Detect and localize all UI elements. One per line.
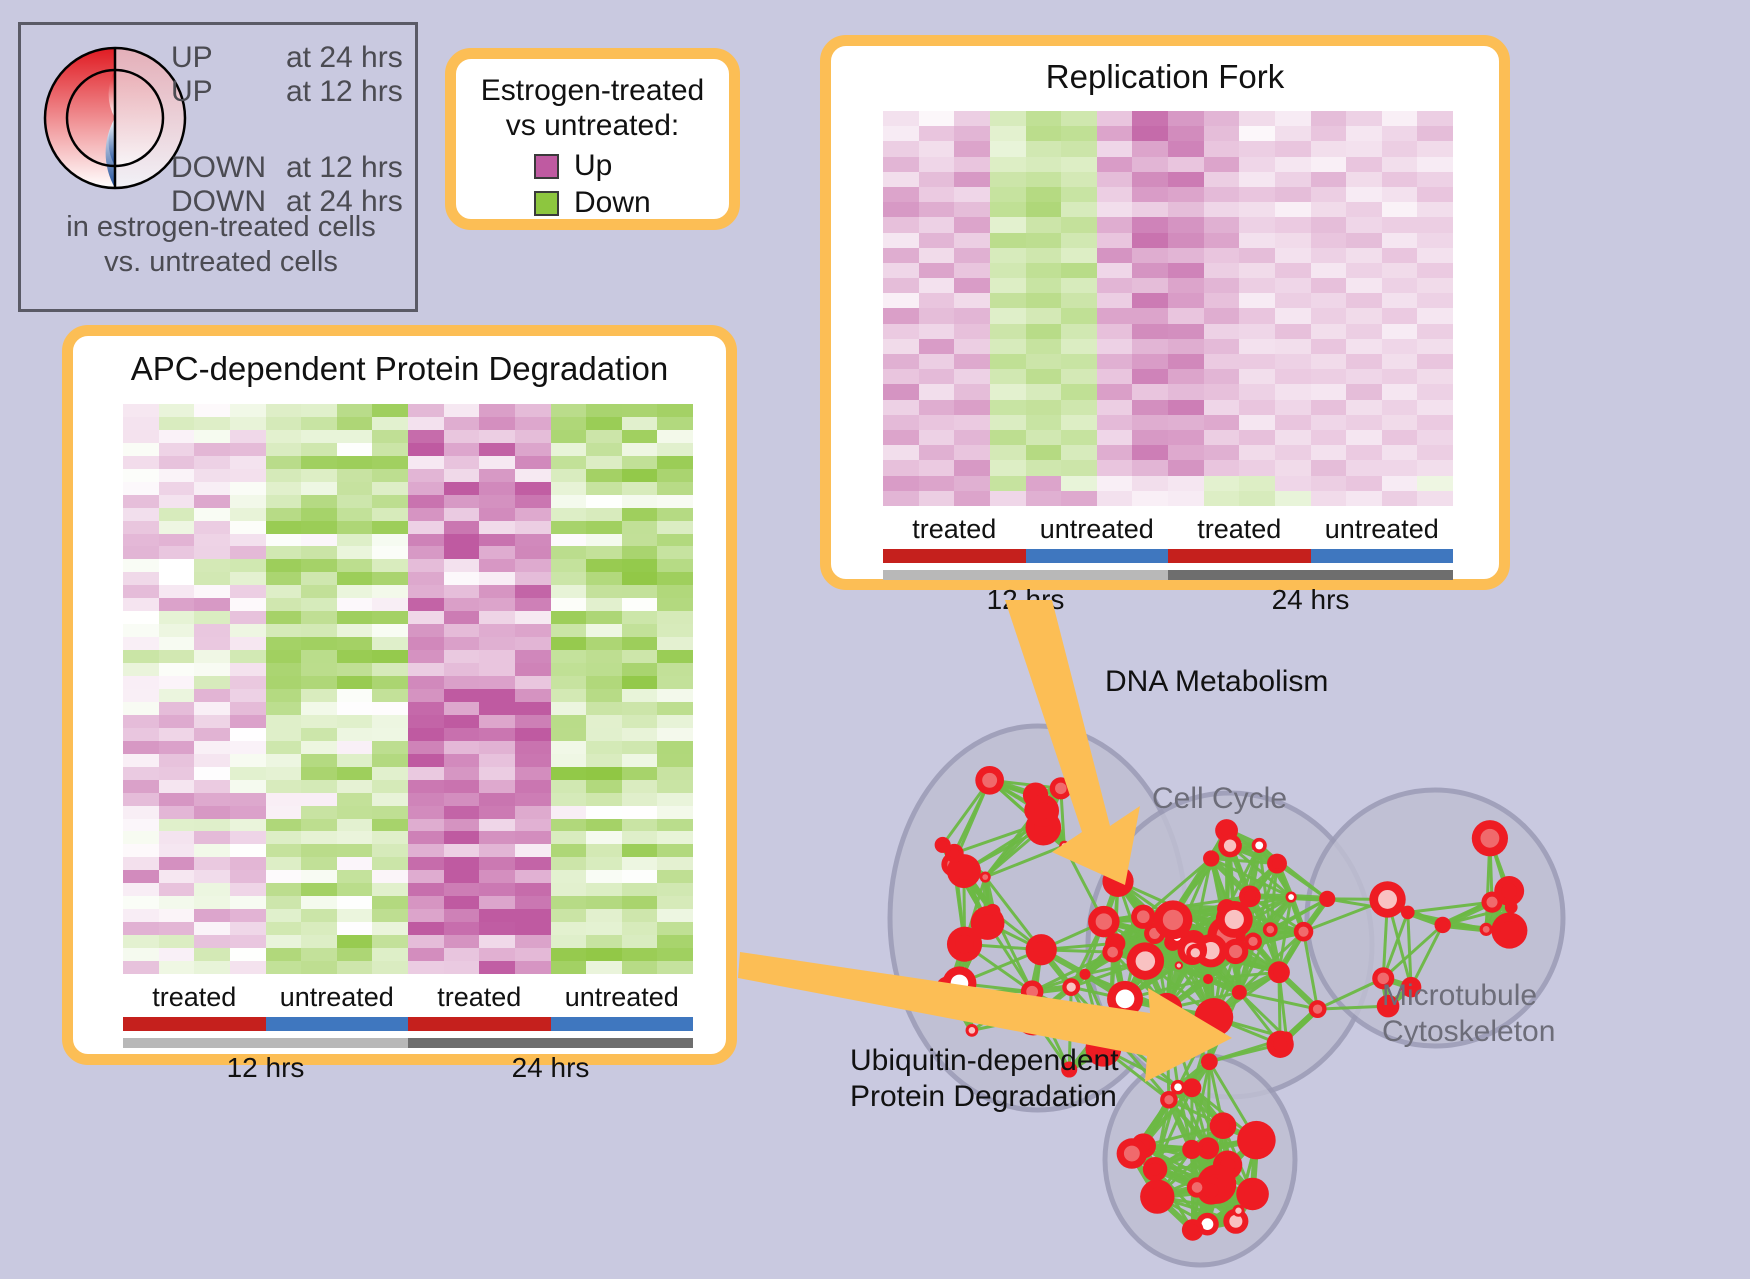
- time-label: 24 hrs: [408, 1048, 693, 1084]
- network-node-core: [1148, 1188, 1166, 1206]
- group-label: untreated: [1311, 514, 1454, 545]
- apc-time-bars: [123, 1038, 693, 1048]
- estrogen-legend-title: Estrogen-treated vs untreated:: [456, 73, 729, 144]
- wheel-key: UP: [171, 77, 286, 107]
- group-label: untreated: [266, 982, 409, 1013]
- network-node-core: [1273, 967, 1284, 978]
- replication-fork-heatmap: [883, 111, 1453, 506]
- network-node-core: [1273, 1037, 1287, 1051]
- network-node-core: [938, 841, 946, 849]
- network-node-core: [949, 848, 959, 858]
- apc-heatmap: [123, 404, 693, 974]
- network-node-core: [1508, 904, 1515, 911]
- network-node-core: [1224, 839, 1236, 851]
- network-node-core: [1487, 897, 1498, 908]
- wheel-value: at 24 hrs: [286, 43, 403, 73]
- network-node-core: [1136, 951, 1156, 971]
- replication-fork-panel: Replication Fork treated untreated treat…: [820, 35, 1510, 590]
- network-node-core: [1205, 1057, 1214, 1066]
- network-node-core: [1246, 1130, 1266, 1150]
- wheel-caption: in estrogen-treated cells vs. untreated …: [21, 210, 421, 281]
- group-label: treated: [1168, 514, 1311, 545]
- group-bar-treated: [883, 549, 1026, 563]
- apc-group-bars: [123, 1017, 693, 1031]
- group-label: treated: [123, 982, 266, 1013]
- wheel-value: at 12 hrs: [286, 153, 403, 183]
- group-bar-treated: [123, 1017, 266, 1031]
- network-node-core: [1116, 990, 1135, 1009]
- cluster-label-cell-cycle: Cell Cycle: [1152, 782, 1287, 816]
- network-node-core: [1501, 883, 1517, 899]
- network-node-core: [1177, 963, 1181, 967]
- network-node-core: [1483, 926, 1490, 933]
- time-bar-12hrs: [123, 1038, 408, 1048]
- wheel-key: DOWN: [171, 153, 286, 183]
- wheel-row-up-12: UP at 12 hrs: [171, 77, 411, 107]
- legend-title-line1: Estrogen-treated: [456, 73, 729, 108]
- time-bar-12hrs: [883, 570, 1168, 580]
- network-node-core: [1378, 890, 1397, 909]
- replication-group-bars: [883, 549, 1453, 563]
- network-node-core: [1202, 1143, 1213, 1154]
- network-node-core: [1204, 1007, 1224, 1027]
- network-node-core: [1191, 948, 1200, 957]
- network-node-core: [1255, 841, 1263, 849]
- label-line1: Ubiquitin-dependent: [850, 1043, 1119, 1079]
- wheel-row-up-24: UP at 24 hrs: [171, 43, 411, 73]
- network-node-core: [1192, 1182, 1203, 1193]
- network-node-core: [982, 874, 988, 880]
- group-bar-untreated: [266, 1017, 409, 1031]
- replication-group-labels: treated untreated treated untreated: [883, 514, 1453, 545]
- network-node-core: [1187, 1083, 1197, 1093]
- network-node-core: [1207, 854, 1215, 862]
- time-bar-24hrs: [1168, 570, 1453, 580]
- legend-label-down: Down: [574, 186, 651, 220]
- network-node-core: [1288, 894, 1294, 900]
- network-node-core: [1033, 942, 1049, 958]
- replication-fork-title: Replication Fork: [831, 46, 1499, 96]
- apc-degradation-panel: APC-dependent Protein Degradation treate…: [62, 325, 737, 1065]
- network-node-core: [1480, 829, 1499, 848]
- apc-group-labels: treated untreated treated untreated: [123, 982, 693, 1013]
- time-bar-24hrs: [408, 1038, 693, 1048]
- network-node-core: [1216, 1119, 1230, 1133]
- up-colour-swatch: [534, 154, 559, 179]
- network-node-core: [1187, 1144, 1197, 1154]
- network-node-core: [1067, 982, 1076, 991]
- group-bar-untreated: [1026, 549, 1169, 563]
- down-colour-swatch: [534, 191, 559, 216]
- group-label: treated: [408, 982, 551, 1013]
- network-node-core: [982, 773, 997, 788]
- network-node-core: [1235, 988, 1243, 996]
- network-node-core: [1110, 873, 1126, 889]
- network-node-core: [1248, 937, 1257, 946]
- network-node-core: [1034, 802, 1051, 819]
- network-node-core: [1055, 783, 1067, 795]
- network-node-core: [1323, 895, 1331, 903]
- network-node-core: [1244, 1186, 1261, 1203]
- time-label: 12 hrs: [123, 1048, 408, 1084]
- network-node-core: [1229, 1215, 1242, 1228]
- colour-wheel-graphic: [43, 43, 188, 193]
- network-node-core: [1026, 986, 1038, 998]
- network-node-core: [1404, 909, 1411, 916]
- network-node-core: [1164, 1095, 1173, 1104]
- network-node-core: [951, 975, 969, 993]
- network-node-core: [1244, 891, 1255, 902]
- label-line1: Microtubule: [1382, 978, 1555, 1014]
- cluster-label-dna-metabolism: DNA Metabolism: [1105, 665, 1328, 699]
- group-bar-treated: [408, 1017, 551, 1031]
- group-label: treated: [883, 514, 1026, 545]
- cluster-label-microtubule-cytoskeleton: Microtubule Cytoskeleton: [1382, 978, 1555, 1050]
- label-line2: Cytoskeleton: [1382, 1014, 1555, 1050]
- network-node-core: [1137, 910, 1150, 923]
- network-node-core: [1229, 945, 1242, 958]
- apc-time-labels: 12 hrs 24 hrs: [123, 1048, 693, 1084]
- label-line2: Protein Degradation: [850, 1079, 1119, 1115]
- network-node-core: [1082, 971, 1088, 977]
- network-node-core: [1187, 1224, 1198, 1235]
- group-label: untreated: [551, 982, 694, 1013]
- network-node-core: [1205, 976, 1210, 981]
- colour-wheel-legend: UP at 24 hrs UP at 12 hrs DOWN at 12 hrs…: [18, 22, 418, 312]
- network-node-core: [1107, 947, 1118, 958]
- network-node-core: [1163, 910, 1183, 930]
- apc-panel-title: APC-dependent Protein Degradation: [73, 336, 726, 388]
- network-node-core: [1159, 1000, 1175, 1016]
- network-node-core: [1500, 921, 1519, 940]
- network-node-core: [1438, 921, 1447, 930]
- legend-title-line2: vs untreated:: [456, 108, 729, 143]
- group-bar-treated: [1168, 549, 1311, 563]
- wheel-value: at 12 hrs: [286, 77, 403, 107]
- network-node-core: [1099, 1019, 1122, 1042]
- network-node-core: [1174, 1083, 1182, 1091]
- legend-label-up: Up: [574, 149, 612, 183]
- wheel-caption-line2: vs. untreated cells: [21, 245, 421, 280]
- legend-item-up: Up: [534, 149, 612, 183]
- wheel-row-down-12: DOWN at 12 hrs: [171, 153, 411, 183]
- network-node-core: [955, 862, 973, 880]
- network-node-core: [1225, 910, 1244, 929]
- wheel-key: UP: [171, 43, 286, 73]
- network-node-core: [969, 1027, 976, 1034]
- network-node-core: [1124, 1146, 1140, 1162]
- cluster-label-ubiquitin-degradation: Ubiquitin-dependent Protein Degradation: [850, 1043, 1119, 1115]
- network-node-core: [1298, 927, 1308, 937]
- enrichment-network: [780, 600, 1750, 1279]
- network-node-core: [1235, 1208, 1241, 1214]
- legend-item-down: Down: [534, 186, 651, 220]
- network-node-core: [1062, 843, 1067, 848]
- replication-time-bars: [883, 570, 1453, 580]
- network-node-core: [1149, 1163, 1162, 1176]
- group-bar-untreated: [551, 1017, 694, 1031]
- wheel-caption-line1: in estrogen-treated cells: [21, 210, 421, 245]
- network-node-core: [955, 935, 973, 953]
- network-node-core: [979, 914, 997, 932]
- network-node-core: [1096, 913, 1112, 929]
- network-node-core: [1024, 1008, 1043, 1027]
- network-node-core: [1313, 1004, 1322, 1013]
- network-node-core: [1272, 858, 1282, 868]
- network-node-core: [1266, 926, 1274, 934]
- group-label: untreated: [1026, 514, 1169, 545]
- group-bar-untreated: [1311, 549, 1454, 563]
- estrogen-legend-panel: Estrogen-treated vs untreated: Up Down: [445, 48, 740, 230]
